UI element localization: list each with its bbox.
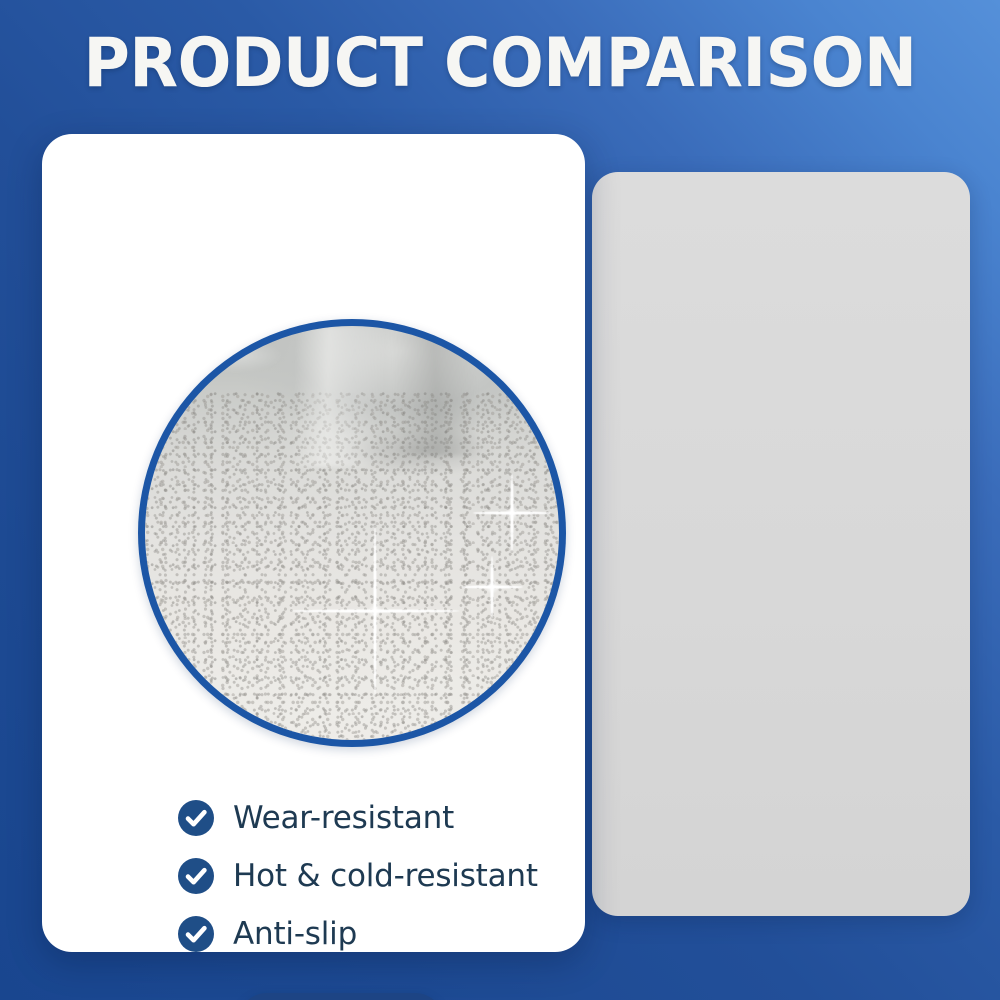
page-title: PRODUCT COMPARISON	[35, 26, 965, 102]
list-item-label: Wear-resistant	[233, 799, 454, 837]
check-circle-icon	[177, 857, 215, 895]
ours-photo	[145, 326, 559, 740]
others-card: Paint peeling Wrinkling Easy to slip OTH…	[592, 172, 970, 916]
ours-card: Wear-resistant Hot & cold-resistant Anti…	[42, 134, 585, 952]
ours-badge[interactable]: OURS	[238, 993, 444, 1000]
list-item-label: Hot & cold-resistant	[233, 857, 538, 895]
sparkle-icon	[461, 556, 523, 618]
sparkle-icon	[290, 526, 460, 696]
sparkle-icon	[473, 474, 551, 552]
check-circle-icon	[177, 799, 215, 837]
ours-photo-ring	[138, 319, 566, 747]
list-item-label: Anti-slip	[233, 915, 357, 953]
list-item: Wear-resistant	[177, 789, 597, 847]
list-item: Anti-slip	[177, 905, 597, 963]
ours-feature-list: Wear-resistant Hot & cold-resistant Anti…	[177, 789, 597, 963]
list-item: Hot & cold-resistant	[177, 847, 597, 905]
product-comparison-poster: PRODUCT COMPARISON Paint peeling Wrinkli…	[0, 0, 1000, 1000]
check-circle-icon	[177, 915, 215, 953]
